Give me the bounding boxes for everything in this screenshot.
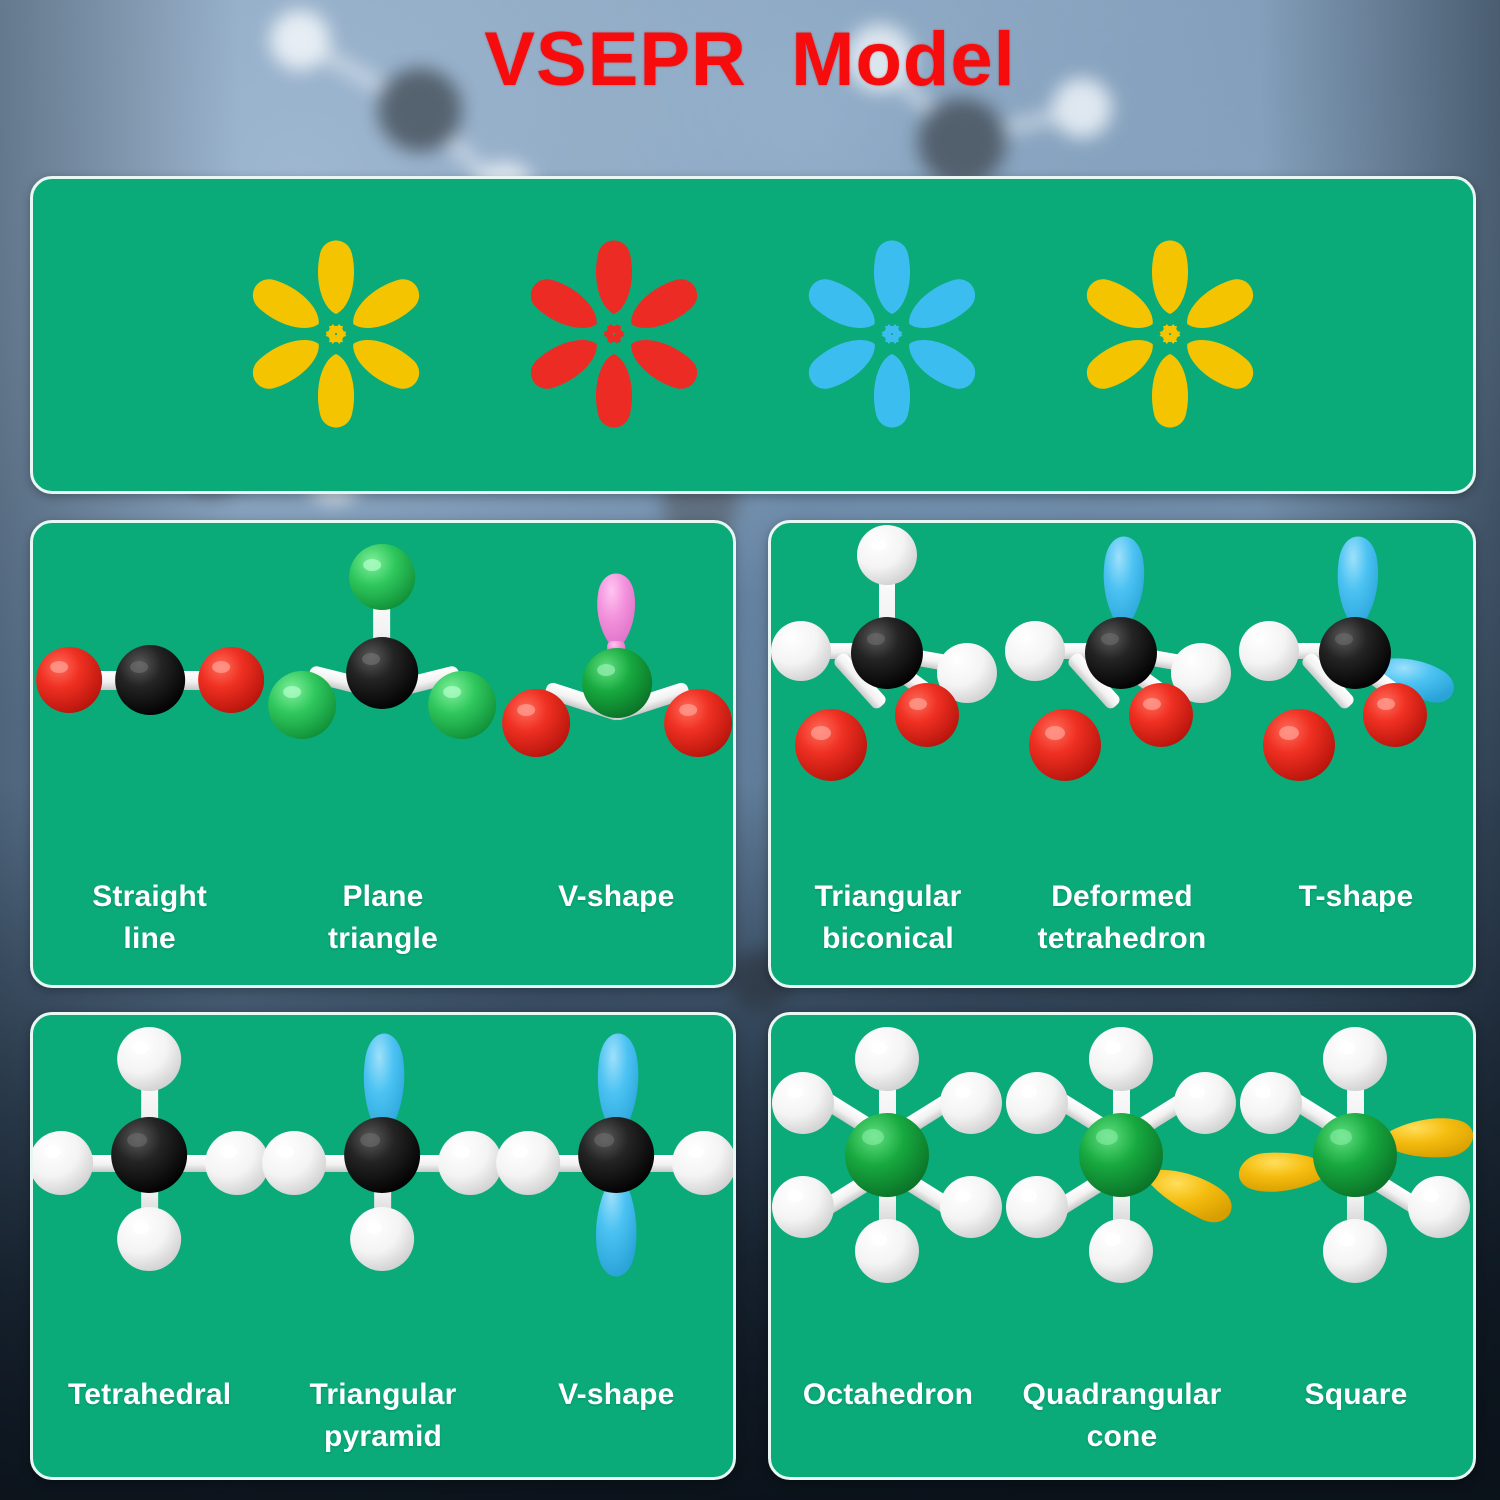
- model-straight-line: [33, 523, 266, 823]
- model-label-plane-triangle: Plane triangle: [266, 876, 499, 961]
- page-title: VSEPR Model: [0, 16, 1500, 103]
- model-label-octahedron: Octahedron: [771, 1374, 1005, 1459]
- model-label-t-shape: T-shape: [1239, 876, 1473, 961]
- model-label-v-shape: V-shape: [500, 876, 733, 961]
- panel-tetrahedral-group: Tetrahedral Triangular pyramid V-shape: [30, 1012, 736, 1480]
- lone-pair-cluster-row: [33, 209, 1473, 459]
- lone-pair-cluster-yellow-2: [1070, 234, 1270, 434]
- model-row: [771, 523, 1473, 823]
- model-label-quadrangular-cone: Quadrangular cone: [1005, 1374, 1239, 1459]
- model-label-triangular-biconical: Triangular biconical: [771, 876, 1005, 961]
- lone-pair-lobe-pink: [597, 574, 635, 658]
- model-row: [771, 1015, 1473, 1315]
- label-row: Triangular biconical Deformed tetrahedro…: [771, 876, 1473, 961]
- model-label-v-shape: V-shape: [500, 1374, 733, 1459]
- model-label-triangular-pyramid: Triangular pyramid: [266, 1374, 499, 1459]
- model-label-square: Square: [1239, 1374, 1473, 1459]
- model-triangular-biconical: [771, 523, 1005, 823]
- model-quadrangular-cone: [1005, 1015, 1239, 1315]
- model-v-shape-tetra: [500, 1015, 733, 1315]
- model-label-straight-line: Straight line: [33, 876, 266, 961]
- model-tetrahedral: [33, 1015, 266, 1315]
- model-v-shape-bent: [500, 523, 733, 823]
- lone-pair-cluster-blue: [792, 234, 992, 434]
- panel-linear-group: Straight line Plane triangle V-shape: [30, 520, 736, 988]
- model-label-deformed-tetrahedron: Deformed tetrahedron: [1005, 876, 1239, 961]
- model-row: [33, 1015, 733, 1315]
- lone-pair-cluster-yellow-1: [236, 234, 436, 434]
- model-square: [1239, 1015, 1473, 1315]
- model-row: [33, 523, 733, 823]
- panel-octahedral-group: Octahedron Quadrangular cone Square: [768, 1012, 1476, 1480]
- model-label-tetrahedral: Tetrahedral: [33, 1374, 266, 1459]
- model-plane-triangle: [266, 523, 499, 823]
- label-row: Tetrahedral Triangular pyramid V-shape: [33, 1374, 733, 1459]
- lone-pair-cluster-red: [514, 234, 714, 434]
- panel-trigonal-bipyramidal-group: Triangular biconical Deformed tetrahedro…: [768, 520, 1476, 988]
- model-deformed-tetrahedron: [1005, 523, 1239, 823]
- model-octahedron: [771, 1015, 1005, 1315]
- model-triangular-pyramid: [266, 1015, 499, 1315]
- label-row: Octahedron Quadrangular cone Square: [771, 1374, 1473, 1459]
- model-t-shape: [1239, 523, 1473, 823]
- label-row: Straight line Plane triangle V-shape: [33, 876, 733, 961]
- panel-lone-pair-clusters: [30, 176, 1476, 494]
